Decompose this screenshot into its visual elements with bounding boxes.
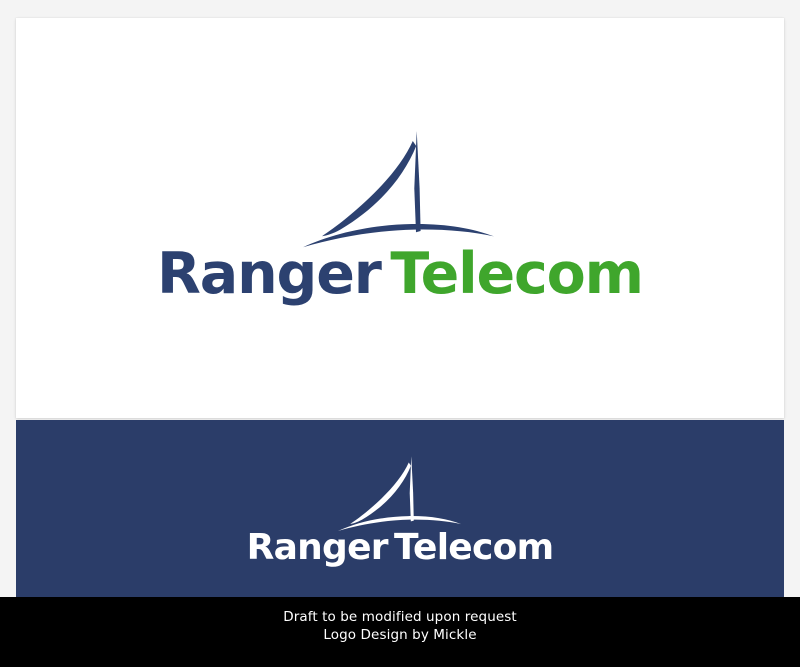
logo-lockup-dark: RangerTelecom (247, 454, 554, 566)
light-background-variant: RangerTelecom (16, 18, 784, 418)
caption-bar: Draft to be modified upon request Logo D… (0, 597, 800, 667)
ranger-telecom-sail-mark-reversed (336, 454, 465, 533)
wordmark-secondary-reversed: Telecom (394, 527, 554, 568)
logo-lockup-light: RangerTelecom (157, 128, 643, 303)
dark-background-variant: RangerTelecom (16, 420, 784, 597)
wordmark-primary-reversed: Ranger (247, 527, 388, 568)
caption-line-draft-note: Draft to be modified upon request (283, 608, 517, 626)
wordmark-primary: Ranger (157, 241, 381, 307)
presentation-stage: RangerTelecom RangerTelecom Draft to be … (0, 0, 800, 667)
wordmark-light: RangerTelecom (157, 246, 643, 303)
caption-line-designer-credit: Logo Design by Mickle (323, 626, 476, 644)
wordmark-dark: RangerTelecom (247, 530, 554, 566)
wordmark-secondary: Telecom (390, 241, 643, 307)
ranger-telecom-sail-mark (300, 128, 500, 250)
